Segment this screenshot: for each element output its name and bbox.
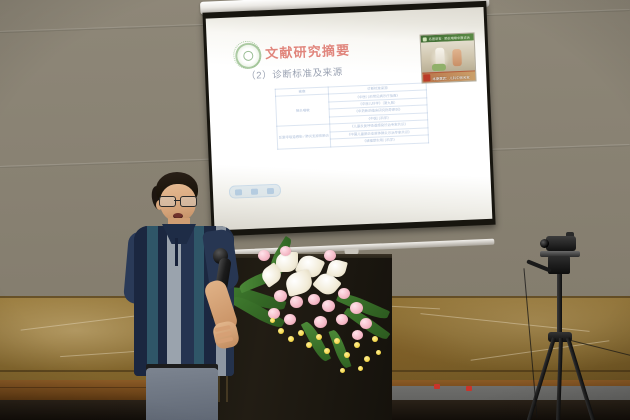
orchid-bloom — [316, 334, 322, 340]
pink-rose — [360, 318, 372, 329]
trousers — [146, 368, 218, 420]
institution-logo-icon — [235, 42, 262, 69]
orchid-bloom — [278, 328, 284, 334]
orchid-bloom — [372, 336, 378, 342]
orchid-bloom — [364, 356, 370, 362]
orchid-bloom — [344, 352, 350, 358]
orchid-bloom — [358, 366, 363, 371]
conference-room-photo: 文献研究摘要 （2）诊断标准及来源 疾病 诊断标准来源 肺炎喘嗽 《中医儿科常见… — [0, 0, 630, 420]
orchid-bloom — [324, 348, 330, 354]
eyeglasses — [159, 196, 197, 206]
pink-rose — [290, 296, 303, 308]
table-cell-disease: 反复呼吸道感染 / 肺炎支原体肺炎 — [277, 124, 331, 149]
screen-surface: 文献研究摘要 （2）诊断标准及来源 疾病 诊断标准来源 肺炎喘嗽 《中医儿科常见… — [206, 7, 493, 230]
pink-rose — [280, 246, 291, 256]
pink-rose — [324, 250, 336, 261]
floor-marker — [434, 384, 440, 389]
next-icon[interactable] — [267, 187, 274, 193]
palm-frond — [328, 328, 351, 369]
pip-badge-icon — [423, 74, 430, 81]
pink-rose — [274, 290, 287, 302]
camera-cable — [523, 268, 537, 418]
pink-rose — [268, 308, 280, 319]
orchid-bloom — [288, 336, 294, 342]
orchid-bloom — [270, 318, 275, 323]
shirt-stripe — [158, 226, 167, 376]
slide-title: 文献研究摘要 — [265, 40, 351, 63]
tripod-leg — [566, 337, 597, 420]
orchid-bloom — [340, 368, 345, 373]
floor-marker — [466, 386, 472, 391]
pink-rose — [352, 330, 363, 340]
pink-rose — [314, 316, 327, 328]
pink-rose — [322, 300, 335, 312]
tripod-leg — [556, 338, 563, 420]
camera-body — [546, 236, 576, 251]
slide-subtitle: （2）诊断标准及来源 — [246, 64, 343, 82]
orchid-bloom — [354, 342, 360, 348]
shirt-stripe — [134, 226, 147, 376]
pink-rose — [308, 294, 320, 305]
pip-figure-right — [452, 49, 462, 66]
pip-logo-icon — [423, 37, 427, 41]
projected-slide: 文献研究摘要 （2）诊断标准及来源 疾病 诊断标准来源 肺炎喘嗽 《中医儿科常见… — [213, 27, 486, 210]
shirt-stripe — [167, 226, 181, 376]
shirt-stripe — [181, 226, 194, 376]
orchid-bloom — [376, 350, 381, 355]
presenter — [118, 170, 248, 420]
finger — [217, 337, 233, 344]
lens-right — [180, 196, 197, 207]
video-camera-on-tripod — [522, 228, 602, 408]
pink-rose — [336, 314, 348, 325]
pink-rose — [284, 314, 296, 325]
pink-rose — [258, 250, 270, 261]
play-icon[interactable] — [251, 188, 258, 194]
pink-rose — [338, 288, 350, 299]
pip-video-frame — [421, 40, 475, 73]
orchid-bloom — [306, 342, 312, 348]
diagnostic-criteria-table: 疾病 诊断标准来源 肺炎喘嗽 《中医儿科常见病诊疗指南》 《中医儿科学》（第九版… — [275, 82, 429, 149]
white-lily — [284, 269, 315, 297]
shirt-placket — [175, 238, 178, 266]
pip-caption-bar: 本期嘉宾：儿科中医名家 — [422, 70, 475, 82]
camera-lens-icon — [540, 239, 549, 248]
pip-caption-text: 本期嘉宾：儿科中医名家 — [432, 74, 469, 81]
picture-in-picture-video[interactable]: 名医讲堂 · 肺炎喘嗽中医诊治 本期嘉宾：儿科中医名家 — [420, 32, 477, 83]
pink-rose — [350, 302, 363, 314]
tripod-head — [548, 256, 570, 274]
lens-left — [159, 196, 176, 207]
orchid-bloom — [334, 338, 340, 344]
shirt-stripe — [147, 226, 158, 376]
floral-arrangement — [224, 244, 406, 394]
table-cell-disease: 肺炎喘嗽 — [276, 94, 330, 126]
shirt-stripe — [194, 226, 204, 376]
pip-foreground-plant — [431, 63, 445, 71]
center-column — [557, 274, 562, 336]
orchid-bloom — [298, 330, 304, 336]
